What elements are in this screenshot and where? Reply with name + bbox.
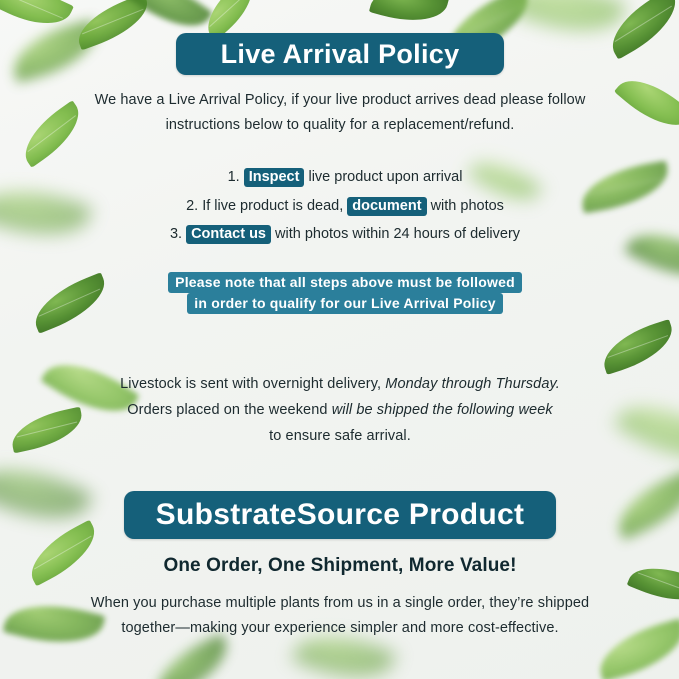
- product-value-paragraph: When you purchase multiple plants from u…: [72, 591, 608, 641]
- step-post-text: with photos: [427, 198, 504, 214]
- list-item: 3. Contact us with photos within 24 hour…: [150, 220, 540, 249]
- steps-list: 1. Inspect live product upon arrival 2. …: [150, 163, 540, 249]
- document-content: Live Arrival Policy We have a Live Arriv…: [0, 0, 679, 679]
- step-post-text: live product upon arrival: [304, 169, 462, 185]
- policy-note-block: Please note that all steps above must be…: [150, 272, 540, 314]
- live-arrival-policy-banner: Live Arrival Policy: [176, 33, 504, 75]
- step-number: 2.: [186, 198, 198, 214]
- product-subtitle: One Order, One Shipment, More Value!: [92, 555, 588, 577]
- step-post-text: with photos within 24 hours of delivery: [271, 226, 520, 242]
- step-highlight: document: [347, 197, 426, 216]
- livestock-line2-emphasis: will be shipped the following week: [332, 402, 553, 418]
- note-line-2: in order to qualify for our Live Arrival…: [187, 293, 502, 314]
- step-number: 3.: [170, 226, 182, 242]
- note-line-1: Please note that all steps above must be…: [168, 272, 522, 293]
- step-number: 1.: [228, 169, 240, 185]
- livestock-line1-text: Livestock is sent with overnight deliver…: [120, 376, 385, 392]
- livestock-shipping-paragraph: Livestock is sent with overnight deliver…: [82, 372, 598, 449]
- intro-paragraph: We have a Live Arrival Policy, if your l…: [62, 88, 618, 138]
- step-highlight: Inspect: [244, 168, 305, 187]
- livestock-line3-text: to ensure safe arrival.: [269, 428, 411, 444]
- substrate-source-product-banner: SubstrateSource Product: [124, 491, 556, 539]
- list-item: 2. If live product is dead, document wit…: [150, 192, 540, 221]
- list-item: 1. Inspect live product upon arrival: [150, 163, 540, 192]
- livestock-line2-text: Orders placed on the weekend: [127, 402, 331, 418]
- page-root: Live Arrival Policy We have a Live Arriv…: [0, 0, 679, 679]
- step-highlight: Contact us: [186, 225, 271, 244]
- intro-lead-text: We have a Live Arrival Policy: [95, 92, 284, 108]
- livestock-line1-emphasis: Monday through Thursday.: [385, 376, 560, 392]
- step-pre-text: If live product is dead,: [202, 198, 347, 214]
